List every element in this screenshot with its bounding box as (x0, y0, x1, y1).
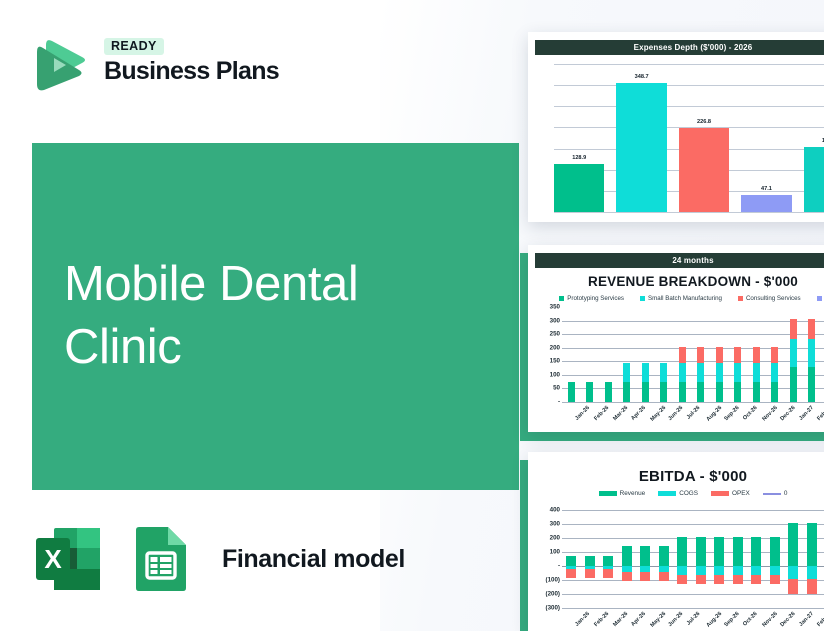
stacked-bar (673, 510, 692, 608)
bar-segment (716, 382, 723, 402)
slide-canvas: READY Business Plans Mobile Dental Clini… (0, 0, 824, 631)
y-tick-label: (100) (534, 577, 560, 584)
bar (554, 164, 604, 212)
stacked-bar (790, 307, 797, 402)
y-tick-label: 50 (534, 385, 560, 392)
bar-segment (770, 575, 780, 585)
revenue-bar-group (562, 307, 824, 402)
stacked-bar (605, 307, 612, 402)
bar-segment (697, 382, 704, 402)
bar-segment (605, 382, 612, 402)
bar-item: 176.5 (804, 147, 824, 212)
bar-segment (790, 367, 797, 402)
bar-segment (734, 382, 741, 402)
chart-header-expenses: Expenses Depth ($'000) - 2026 (535, 40, 824, 55)
stacked-bar (803, 510, 822, 608)
bar-segment (788, 579, 798, 594)
bar-segment (734, 347, 741, 363)
bar (679, 128, 729, 212)
bar-segment (603, 556, 613, 566)
bar-segment (733, 537, 743, 566)
bar-segment (660, 382, 667, 402)
bar-segment (622, 572, 632, 581)
hero-banner: Mobile Dental Clinic (32, 143, 519, 490)
bar-segment (622, 546, 632, 566)
google-sheets-icon (122, 522, 196, 596)
bar (804, 147, 824, 212)
legend-label: COGS (679, 490, 698, 497)
y-tick-label: 350 (534, 304, 560, 311)
bar-segment (716, 347, 723, 363)
x-tick: Jan-26 (560, 403, 579, 427)
legend-swatch (658, 491, 676, 496)
x-tick: Jan-27 (784, 403, 803, 427)
bar-segment (751, 575, 761, 585)
bar-segment (716, 363, 723, 383)
bar-segment (753, 347, 760, 363)
stacked-bar (771, 307, 778, 402)
stacked-bar (618, 510, 637, 608)
bar-segment (679, 347, 686, 363)
stacked-bar (734, 307, 741, 402)
y-tick-label: 100 (534, 371, 560, 378)
x-tick: Nov-26 (746, 609, 765, 631)
bar-item: 348.7 (616, 83, 666, 212)
stacked-bar (642, 307, 649, 402)
bar-segment (751, 537, 761, 566)
bar-segment (677, 575, 687, 585)
bar-segment (733, 566, 743, 575)
bar-segment (808, 367, 815, 402)
page-title: Mobile Dental Clinic (64, 253, 464, 378)
bar-segment (714, 566, 724, 575)
y-tick-label: 200 (534, 535, 560, 542)
chart-header-months: 24 months (535, 253, 824, 268)
x-tick: Feb-27 (802, 609, 821, 631)
stacked-bar (636, 510, 655, 608)
x-tick: Sep-26 (709, 609, 728, 631)
bar-segment (586, 382, 593, 402)
y-tick-label: 300 (534, 317, 560, 324)
stacked-bar (623, 307, 630, 402)
bar-segment (751, 566, 761, 575)
bar-segment (585, 569, 595, 578)
x-tick: Mar-26 (597, 403, 616, 427)
x-tick: Dec-26 (765, 403, 784, 427)
legend-swatch (640, 296, 645, 301)
y-tick-label: - (534, 399, 560, 406)
bar-segment (714, 575, 724, 585)
bar-segment (790, 339, 797, 367)
bar-segment (808, 339, 815, 367)
bar-segment (679, 363, 686, 383)
bar-item: 226.8 (679, 128, 729, 212)
brand-logo: READY Business Plans (32, 30, 279, 92)
ebitda-x-axis: Jan-26Feb-26Mar-26Apr-26May-26Jun-26Jul-… (560, 609, 824, 631)
ebitda-bar-group (562, 510, 824, 608)
bar-segment (770, 537, 780, 566)
bar-segment (696, 575, 706, 585)
bar (741, 195, 791, 212)
stacked-bar (766, 510, 785, 608)
bar-segment (642, 363, 649, 383)
y-tick-label: - (534, 563, 560, 570)
legend-swatch (763, 493, 781, 495)
bar (616, 83, 666, 212)
stacked-bar (660, 307, 667, 402)
legend-item: Consulting Services (738, 295, 801, 302)
expenses-bar-group: 128.9348.7226.847.1176.5 (554, 64, 824, 212)
x-tick: Mar-26 (597, 609, 616, 631)
bar-segment (771, 347, 778, 363)
bar-segment (808, 319, 815, 339)
bar-segment (623, 363, 630, 383)
y-tick-label: (200) (534, 591, 560, 598)
bar-value-label: 348.7 (616, 74, 666, 80)
legend-item: 0 (763, 490, 788, 497)
x-tick: Apr-26 (616, 403, 635, 427)
x-tick: Dec-26 (765, 609, 784, 631)
x-tick: May-26 (635, 403, 654, 427)
bar-segment (770, 566, 780, 575)
stacked-bar (716, 307, 723, 402)
bar-segment (771, 382, 778, 402)
legend-swatch (817, 296, 822, 301)
bar-segment (788, 523, 798, 566)
bar-segment (660, 363, 667, 383)
chart-card-expenses-depth[interactable]: Expenses Depth ($'000) - 2026 128.9348.7… (528, 32, 824, 222)
legend-swatch (738, 296, 743, 301)
bar-segment (697, 363, 704, 383)
expenses-plot-area: 128.9348.7226.847.1176.5 (540, 64, 824, 212)
bar-segment (697, 347, 704, 363)
revenue-plot-area: 35030025020015010050- (534, 307, 824, 402)
bar-segment (753, 382, 760, 402)
stacked-bar (692, 510, 711, 608)
bar-segment (677, 537, 687, 566)
bar-segment (753, 363, 760, 383)
y-tick-label: 400 (534, 507, 560, 514)
legend-swatch (599, 491, 617, 496)
x-tick: Jun-26 (653, 609, 672, 631)
stacked-bar (568, 307, 575, 402)
x-tick: Jun-26 (653, 403, 672, 427)
x-tick: Jan-26 (560, 609, 579, 631)
x-tick: Feb-27 (802, 403, 821, 427)
legend-item: COGS (658, 490, 698, 497)
x-tick: Nov-26 (746, 403, 765, 427)
bar-segment (807, 566, 817, 579)
y-tick-label: 100 (534, 549, 560, 556)
stacked-bar (808, 307, 815, 402)
x-tick: May-26 (635, 609, 654, 631)
x-tick: Aug-26 (690, 403, 709, 427)
chart-title-revenue: REVENUE BREAKDOWN - $'000 (528, 274, 824, 289)
stacked-bar (655, 510, 674, 608)
legend-label: Small Batch Manufacturing (648, 295, 722, 302)
x-tick: Feb-26 (579, 609, 598, 631)
bar-segment (788, 566, 798, 579)
bar-segment (733, 575, 743, 585)
legend-item: Small Batch Manufacturing (640, 295, 722, 302)
bar-segment (679, 382, 686, 402)
stacked-bar (753, 307, 760, 402)
x-tick: Apr-26 (616, 609, 635, 631)
bar-segment (790, 319, 797, 339)
bar-value-label: 226.8 (679, 119, 729, 125)
gridline (554, 212, 824, 213)
chart-card-ebitda[interactable]: EBITDA - $'000 RevenueCOGSOPEX0 40030020… (528, 452, 824, 631)
bar-segment (566, 569, 576, 578)
bar-value-label: 176.5 (804, 138, 824, 144)
legend-item: - (817, 295, 824, 302)
chart-legend-ebitda: RevenueCOGSOPEX0 (528, 490, 824, 497)
file-type-label: Financial model (222, 545, 405, 574)
legend-label: Consulting Services (746, 295, 801, 302)
stacked-bar (729, 510, 748, 608)
stacked-bar (581, 510, 600, 608)
legend-item: OPEX (711, 490, 750, 497)
svg-text:X: X (44, 544, 62, 574)
legend-label: OPEX (732, 490, 750, 497)
bar-segment (807, 523, 817, 566)
bar-segment (771, 363, 778, 383)
bar-segment (642, 382, 649, 402)
ready-badge: READY (104, 38, 164, 56)
x-tick: Oct-26 (728, 609, 747, 631)
bar-segment (603, 569, 613, 578)
bar-segment (714, 537, 724, 566)
y-tick-label: 150 (534, 358, 560, 365)
legend-swatch (559, 296, 564, 301)
bar-segment (659, 572, 669, 581)
stacked-bar (697, 307, 704, 402)
x-tick: Aug-26 (690, 609, 709, 631)
stacked-bar (562, 510, 581, 608)
x-tick: Sep-26 (709, 403, 728, 427)
bar-segment (566, 556, 576, 566)
stacked-bar (784, 510, 803, 608)
revenue-x-axis: Jan-26Feb-26Mar-26Apr-26May-26Jun-26Jul-… (560, 403, 824, 427)
bar-segment (696, 566, 706, 575)
y-tick-label: (300) (534, 605, 560, 612)
legend-swatch (711, 491, 729, 496)
bar-segment (640, 572, 650, 581)
ebitda-plot-area: 400300200100-(100)(200)(300) (534, 510, 824, 608)
bar-segment (696, 537, 706, 566)
y-tick-label: 200 (534, 344, 560, 351)
stacked-bar (710, 510, 729, 608)
x-tick: Feb-26 (579, 403, 598, 427)
bar-item: 128.9 (554, 164, 604, 212)
legend-item: Revenue (599, 490, 646, 497)
stacked-bar (599, 510, 618, 608)
play-triangle-logo-icon (32, 30, 90, 92)
bar-segment (568, 382, 575, 402)
stacked-bar (586, 307, 593, 402)
x-tick: Jan-27 (784, 609, 803, 631)
bar-segment (623, 382, 630, 402)
y-tick-label: 250 (534, 331, 560, 338)
legend-label: Prototyping Services (567, 295, 624, 302)
bar-segment (659, 546, 669, 566)
x-tick: Jul-26 (672, 609, 691, 631)
chart-legend-revenue: Prototyping ServicesSmall Batch Manufact… (528, 295, 824, 302)
bar-segment (734, 363, 741, 383)
legend-label: Revenue (620, 490, 646, 497)
bar-segment (585, 556, 595, 566)
x-tick: Jul-26 (672, 403, 691, 427)
legend-label: 0 (784, 490, 788, 497)
stacked-bar (747, 510, 766, 608)
y-tick-label: 300 (534, 521, 560, 528)
chart-card-revenue-breakdown[interactable]: 24 months REVENUE BREAKDOWN - $'000 Prot… (528, 245, 824, 432)
bar-segment (640, 546, 650, 566)
bar-value-label: 47.1 (741, 186, 791, 192)
bar-value-label: 128.9 (554, 155, 604, 161)
legend-item: Prototyping Services (559, 295, 624, 302)
brand-name: Business Plans (104, 58, 279, 84)
bar-segment (677, 566, 687, 575)
bar-item: 47.1 (741, 195, 791, 212)
x-tick: Oct-26 (728, 403, 747, 427)
bar-segment (807, 579, 817, 594)
file-type-row: X Financial model (32, 522, 405, 596)
stacked-bar (679, 307, 686, 402)
chart-title-ebitda: EBITDA - $'000 (528, 468, 824, 485)
microsoft-excel-icon: X (32, 522, 106, 596)
